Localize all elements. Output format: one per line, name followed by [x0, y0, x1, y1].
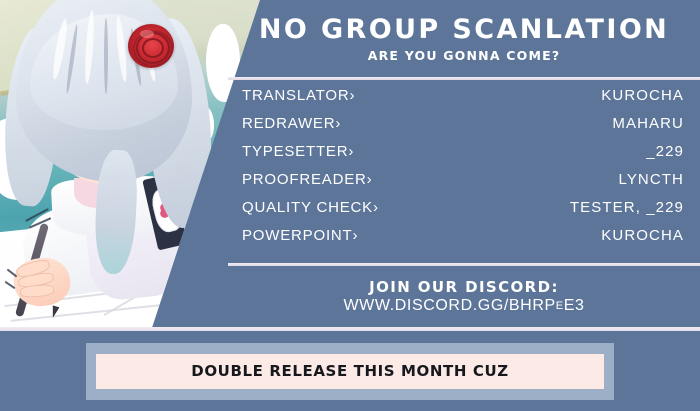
credit-row-typesetter: Typesetter› _229 [242, 143, 684, 171]
scanlation-credits-card: No Group Scanlation Are you gonna come? … [0, 0, 700, 411]
credits-list: Translator› Kurocha Redrawer› Maharu Typ… [228, 82, 700, 260]
credits-content: No Group Scanlation Are you gonna come? … [228, 0, 700, 331]
credit-row-translator: Translator› Kurocha [242, 87, 684, 115]
chevron-right-icon: › [353, 227, 359, 244]
credit-row-redrawer: Redrawer› Maharu [242, 115, 684, 143]
credit-person: Kurocha [601, 227, 684, 244]
credit-row-proofreader: Proofreader› Lyncth [242, 171, 684, 199]
rose-highlight [140, 30, 154, 38]
credit-role: Quality Check› [242, 199, 379, 216]
chevron-right-icon: › [373, 199, 379, 216]
announcement-banner-border: Double release this month cuz [86, 343, 614, 400]
chevron-right-icon: › [348, 143, 354, 160]
credit-person: Maharu [612, 115, 684, 132]
credit-person: Kurocha [601, 87, 684, 104]
chevron-right-icon: › [367, 171, 373, 188]
discord-heading: Join our Discord: [369, 280, 559, 295]
credit-role: Proofreader› [242, 171, 372, 188]
group-subtitle: Are you gonna come? [368, 50, 561, 63]
credit-role: Powerpoint› [242, 227, 358, 244]
credit-role: Typesetter› [242, 143, 354, 160]
discord-block: Join our Discord: WWW.DISCORD.GG/BHRPEE3 [228, 266, 700, 327]
announcement-text: Double release this month cuz [191, 362, 508, 380]
header-block: No Group Scanlation Are you gonna come? [228, 0, 700, 78]
group-title: No Group Scanlation [259, 16, 669, 43]
divider-top [228, 77, 700, 80]
discord-invite-link[interactable]: WWW.DISCORD.GG/BHRPEE3 [343, 298, 584, 314]
hair-strand [104, 18, 108, 94]
illustration-panel [0, 0, 260, 331]
credit-role: Translator› [242, 87, 355, 104]
chevron-right-icon: › [335, 115, 341, 132]
credit-row-powerpoint: Powerpoint› Kurocha [242, 227, 684, 255]
credit-person: Lyncth [619, 171, 685, 188]
chevron-right-icon: › [349, 87, 355, 104]
credit-person: Tester, _229 [570, 199, 684, 216]
credit-role: Redrawer› [242, 115, 341, 132]
rose-petal [142, 38, 164, 58]
credit-person: _229 [646, 143, 684, 160]
announcement-area: Double release this month cuz [0, 331, 700, 411]
announcement-banner: Double release this month cuz [96, 354, 604, 389]
credit-row-quality-check: Quality Check› Tester, _229 [242, 199, 684, 227]
